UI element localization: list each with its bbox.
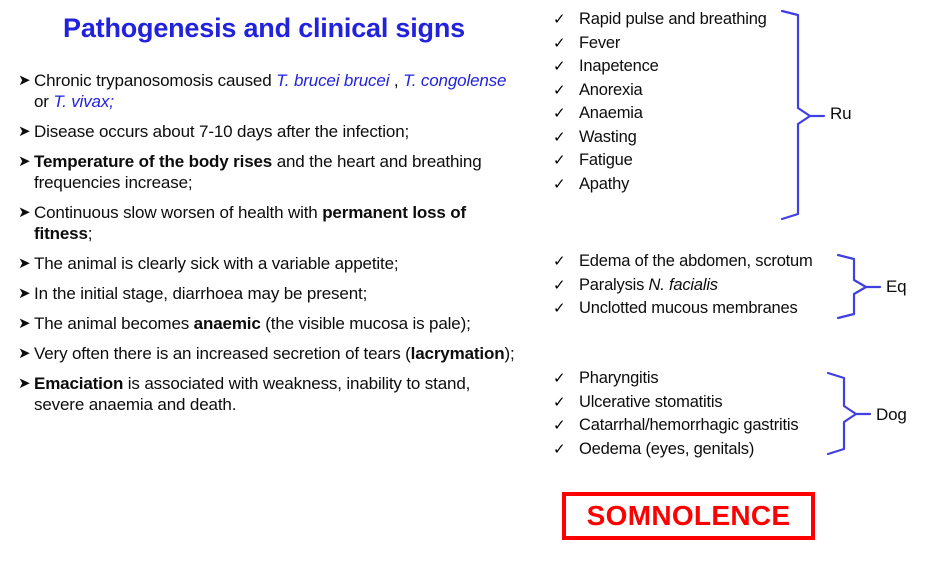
text-run: Chronic trypanosomosis caused	[34, 71, 276, 90]
text-run: ,	[389, 71, 403, 90]
curly-brace-ru-icon	[778, 8, 828, 223]
arrow-bullet-icon: ➤	[18, 283, 34, 304]
text-run: Inapetence	[579, 57, 659, 75]
text-run: Emaciation	[34, 374, 123, 393]
text-run: Fever	[579, 34, 620, 52]
list-item-label: Wasting	[579, 126, 637, 150]
text-run: Very often there is an increased secreti…	[34, 344, 411, 363]
bullet-emaciation: ➤Emaciation is associated with weakness,…	[18, 373, 518, 415]
checkmark-icon: ✓	[528, 274, 579, 298]
text-run: lacrymation	[411, 344, 505, 363]
group-label-ru: Ru	[830, 104, 851, 124]
bullet-text: Disease occurs about 7-10 days after the…	[34, 121, 518, 142]
bullet-text: The animal is clearly sick with a variab…	[34, 253, 518, 274]
list-item: ✓Paralysis N. facialis	[528, 274, 813, 298]
list-item: ✓Fever	[528, 32, 767, 56]
page-title: Pathogenesis and clinical signs	[0, 14, 528, 44]
bullet-chronic-trypanosomosis: ➤Chronic trypanosomosis caused T. brucei…	[18, 70, 518, 112]
checkmark-icon: ✓	[528, 55, 579, 79]
group-label-eq: Eq	[886, 277, 906, 297]
list-item: ✓Fatigue	[528, 149, 767, 173]
text-run: or	[34, 92, 53, 111]
bullet-worsening-health: ➤Continuous slow worsen of health with p…	[18, 202, 518, 244]
text-run: Fatigue	[579, 151, 633, 169]
somnolence-callout-box: SOMNOLENCE	[562, 492, 815, 540]
list-item: ✓Anorexia	[528, 79, 767, 103]
checkmark-icon: ✓	[528, 173, 579, 197]
bullet-temperature: ➤Temperature of the body rises and the h…	[18, 151, 518, 193]
list-item-label: Fever	[579, 32, 620, 56]
text-run: Unclotted mucous membranes	[579, 299, 798, 317]
list-item: ✓Rapid pulse and breathing	[528, 8, 767, 32]
text-run: Oedema (eyes, genitals)	[579, 440, 754, 458]
text-run: Catarrhal/hemorrhagic gastritis	[579, 416, 798, 434]
list-item-label: Rapid pulse and breathing	[579, 8, 767, 32]
list-item-label: Apathy	[579, 173, 629, 197]
list-item-label: Ulcerative stomatitis	[579, 391, 722, 415]
checkmark-icon: ✓	[528, 367, 579, 391]
list-item: ✓Ulcerative stomatitis	[528, 391, 798, 415]
somnolence-label: SOMNOLENCE	[587, 500, 791, 532]
arrow-bullet-icon: ➤	[18, 202, 34, 223]
bullet-diarrhoea: ➤In the initial stage, diarrhoea may be …	[18, 283, 518, 304]
list-item: ✓Pharyngitis	[528, 367, 798, 391]
species-group-dog: ✓Pharyngitis✓Ulcerative stomatitis✓Catar…	[528, 367, 798, 461]
bullet-anaemic: ➤The animal becomes anaemic (the visible…	[18, 313, 518, 334]
text-run: anaemic	[194, 314, 261, 333]
arrow-bullet-icon: ➤	[18, 373, 34, 394]
list-item-label: Pharyngitis	[579, 367, 658, 391]
list-item: ✓Apathy	[528, 173, 767, 197]
checkmark-icon: ✓	[528, 414, 579, 438]
list-item-label: Paralysis N. facialis	[579, 274, 718, 298]
checkmark-icon: ✓	[528, 8, 579, 32]
checkmark-icon: ✓	[528, 149, 579, 173]
text-run: );	[504, 344, 514, 363]
bullet-text: Very often there is an increased secreti…	[34, 343, 518, 364]
checkmark-icon: ✓	[528, 79, 579, 103]
checkmark-icon: ✓	[528, 391, 579, 415]
bullet-text: Temperature of the body rises and the he…	[34, 151, 518, 193]
text-run: T. brucei brucei	[276, 71, 389, 90]
arrow-bullet-icon: ➤	[18, 313, 34, 334]
text-run: ;	[88, 224, 93, 243]
list-item-label: Fatigue	[579, 149, 633, 173]
arrow-bullet-icon: ➤	[18, 121, 34, 142]
bullet-text: In the initial stage, diarrhoea may be p…	[34, 283, 518, 304]
list-item: ✓Oedema (eyes, genitals)	[528, 438, 798, 462]
species-group-ru: ✓Rapid pulse and breathing✓Fever✓Inapete…	[528, 8, 767, 196]
list-item-label: Anorexia	[579, 79, 643, 103]
list-item-label: Inapetence	[579, 55, 659, 79]
right-species-column: ✓Rapid pulse and breathing✓Fever✓Inapete…	[528, 0, 948, 561]
list-item-label: Oedema (eyes, genitals)	[579, 438, 754, 462]
text-run: The animal becomes	[34, 314, 194, 333]
text-run: Edema of the abdomen, scrotum	[579, 252, 813, 270]
checkmark-icon: ✓	[528, 297, 579, 321]
checkmark-icon: ✓	[528, 102, 579, 126]
text-run: Ulcerative stomatitis	[579, 393, 722, 411]
checkmark-icon: ✓	[528, 250, 579, 274]
list-item: ✓Unclotted mucous membranes	[528, 297, 813, 321]
arrow-bullet-icon: ➤	[18, 151, 34, 172]
list-item-label: Anaemia	[579, 102, 643, 126]
text-run: T. vivax;	[53, 92, 113, 111]
bullet-text: Emaciation is associated with weakness, …	[34, 373, 518, 415]
species-group-eq: ✓Edema of the abdomen, scrotum✓Paralysis…	[528, 250, 813, 321]
curly-brace-eq-icon	[834, 252, 884, 322]
arrow-bullet-icon: ➤	[18, 253, 34, 274]
text-run: T. congolense	[403, 71, 506, 90]
bullet-text: Chronic trypanosomosis caused T. brucei …	[34, 70, 518, 112]
checkmark-icon: ✓	[528, 32, 579, 56]
text-run: Temperature of the body rises	[34, 152, 272, 171]
group-label-dog: Dog	[876, 405, 907, 425]
list-item: ✓Edema of the abdomen, scrotum	[528, 250, 813, 274]
text-run: The animal is clearly sick with a variab…	[34, 254, 398, 273]
text-run: N. facialis	[649, 276, 718, 294]
bullet-variable-appetite: ➤The animal is clearly sick with a varia…	[18, 253, 518, 274]
checkmark-icon: ✓	[528, 126, 579, 150]
list-item-label: Unclotted mucous membranes	[579, 297, 798, 321]
text-run: Disease occurs about 7-10 days after the…	[34, 122, 409, 141]
text-run: Rapid pulse and breathing	[579, 10, 767, 28]
text-run: Pharyngitis	[579, 369, 658, 387]
text-run: Continuous slow worsen of health with	[34, 203, 322, 222]
arrow-bullet-icon: ➤	[18, 343, 34, 364]
list-item: ✓Wasting	[528, 126, 767, 150]
text-run: In the initial stage, diarrhoea may be p…	[34, 284, 367, 303]
clinical-signs-bullet-list: ➤Chronic trypanosomosis caused T. brucei…	[18, 70, 518, 424]
list-item: ✓Anaemia	[528, 102, 767, 126]
text-run: (the visible mucosa is pale);	[261, 314, 471, 333]
text-run: Paralysis	[579, 276, 649, 294]
curly-brace-dog-icon	[824, 370, 874, 458]
bullet-lacrymation: ➤Very often there is an increased secret…	[18, 343, 518, 364]
bullet-text: Continuous slow worsen of health with pe…	[34, 202, 518, 244]
list-item: ✓Catarrhal/hemorrhagic gastritis	[528, 414, 798, 438]
left-content-column: Pathogenesis and clinical signs ➤Chronic…	[0, 0, 528, 561]
bullet-disease-onset: ➤Disease occurs about 7-10 days after th…	[18, 121, 518, 142]
arrow-bullet-icon: ➤	[18, 70, 34, 91]
text-run: Apathy	[579, 175, 629, 193]
bullet-text: The animal becomes anaemic (the visible …	[34, 313, 518, 334]
text-run: Anorexia	[579, 81, 643, 99]
text-run: Anaemia	[579, 104, 643, 122]
list-item-label: Edema of the abdomen, scrotum	[579, 250, 813, 274]
list-item: ✓Inapetence	[528, 55, 767, 79]
checkmark-icon: ✓	[528, 438, 579, 462]
list-item-label: Catarrhal/hemorrhagic gastritis	[579, 414, 798, 438]
text-run: Wasting	[579, 128, 637, 146]
